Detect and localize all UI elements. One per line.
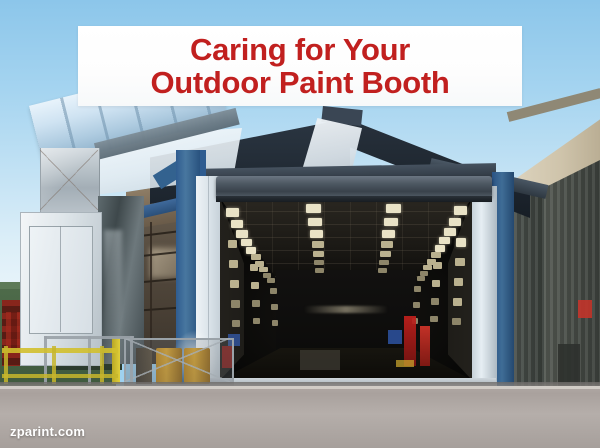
ceiling-lamp: [381, 241, 393, 248]
wall-lamp-left: [272, 320, 278, 326]
ceiling-lamp: [313, 251, 324, 257]
wall-lamp-right: [453, 298, 462, 306]
door-jamb-right: [470, 186, 497, 390]
booth-floor: [220, 348, 472, 380]
cove-lamp-right: [444, 228, 456, 236]
wall-lamp-right: [431, 298, 439, 305]
cove-lamp-left: [236, 230, 248, 238]
site-watermark: zparint.com: [10, 424, 85, 439]
wall-lamp-left: [231, 300, 240, 308]
wall-lamp-left: [232, 320, 240, 327]
booth-equipment: [300, 350, 340, 370]
cove-lamp-right: [431, 252, 441, 258]
cove-lamp-left: [251, 254, 261, 260]
booth-red-item-right-2: [420, 326, 430, 366]
ceiling-lamp: [314, 260, 324, 265]
grey-railing-post: [130, 336, 133, 384]
booth-back-glow: [304, 306, 388, 313]
wall-lamp-left: [251, 282, 259, 289]
cove-lamp-left: [267, 278, 275, 283]
wall-lamp-right: [452, 318, 461, 325]
booth-interior: [220, 198, 472, 380]
wall-lamp-left: [252, 300, 260, 307]
paint-booth-photo: Caring for Your Outdoor Paint Booth zpar…: [0, 0, 600, 448]
wall-lamp-left: [229, 260, 238, 268]
ceiling-lamp: [379, 260, 389, 265]
wall-sign: [578, 300, 592, 318]
cove-lamp-right: [454, 206, 467, 215]
wall-lamp-right: [430, 316, 438, 322]
cove-lamp-left: [259, 267, 268, 272]
ceiling-lamp: [315, 268, 324, 273]
rolled-up-overhead-door: [216, 176, 492, 198]
cove-lamp-left: [226, 208, 239, 217]
wall-lamp-right: [414, 286, 421, 292]
ceiling-lamp: [306, 204, 321, 213]
ceiling-lamp: [312, 241, 324, 248]
ceiling-lamp: [378, 268, 387, 273]
booth-blue-item-right: [388, 330, 402, 344]
ceiling-lamp: [380, 251, 391, 257]
title-banner: Caring for Your Outdoor Paint Booth: [78, 26, 522, 106]
wall-lamp-left: [250, 264, 258, 271]
cove-lamp-right: [439, 237, 450, 244]
cove-lamp-left: [231, 220, 243, 228]
apron-edge-line: [0, 386, 600, 389]
concrete-apron: [0, 386, 600, 448]
yellow-guardrail-post: [52, 346, 56, 384]
cove-lamp-right: [423, 265, 432, 270]
exhaust-duct-cross-bracing: [40, 150, 98, 210]
booth-yellow-item: [396, 360, 414, 367]
yellow-guardrail-post: [4, 346, 8, 384]
wall-lamp-right: [413, 302, 420, 308]
wall-lamp-right: [433, 262, 442, 269]
safety-cage-bracing: [124, 338, 230, 382]
plenum-door-seam: [60, 226, 61, 332]
wall-lamp-right: [432, 280, 440, 287]
wall-lamp-left: [271, 304, 278, 310]
wall-lamp-left: [230, 280, 239, 288]
cove-lamp-left: [241, 239, 252, 246]
overhead-door-lip: [216, 196, 492, 202]
wall-lamp-right: [454, 278, 463, 286]
plenum-access-door: [29, 226, 93, 334]
title-line-2: Outdoor Paint Booth: [150, 66, 449, 99]
ceiling-lamp: [382, 230, 395, 238]
wall-lamp-right: [455, 258, 465, 266]
cove-lamp-right: [417, 276, 425, 281]
wall-lamp-left: [270, 288, 277, 294]
cove-lamp-left: [246, 247, 256, 254]
cove-lamp-right: [435, 245, 445, 252]
ceiling-lamp: [308, 218, 322, 226]
duct-metal-sheen: [104, 230, 122, 340]
wall-lamp-left: [253, 318, 260, 324]
wall-lamp-left: [228, 240, 237, 248]
ceiling-lamp: [384, 218, 398, 226]
ceiling-lamp: [310, 230, 323, 238]
title-line-1: Caring for Your: [190, 33, 410, 66]
cove-lamp-right: [449, 218, 461, 226]
booth-red-item-right: [404, 316, 416, 366]
ceiling-lamp: [386, 204, 401, 213]
yellow-guardrail-post: [100, 346, 104, 384]
wall-lamp-right: [456, 238, 466, 247]
